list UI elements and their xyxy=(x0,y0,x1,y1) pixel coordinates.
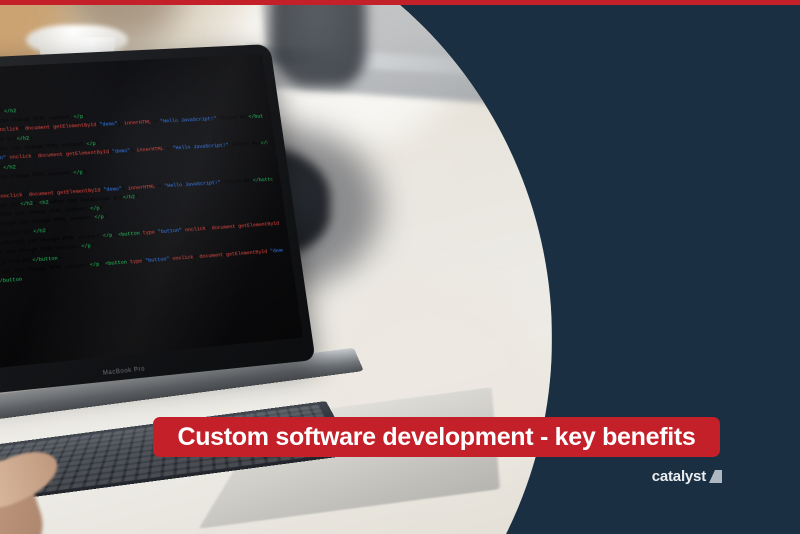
top-accent-rule xyxy=(0,0,800,5)
logo-wordmark: catalyst xyxy=(652,468,706,485)
banner-canvas: <!DOCTYPE html><html><body><h2>What Can … xyxy=(0,0,800,534)
title-banner: Custom software development - key benefi… xyxy=(153,417,720,457)
square-diagonal-icon xyxy=(709,470,722,483)
laptop-screen: <!DOCTYPE html><html><body><h2>What Can … xyxy=(0,54,303,375)
code-editor-text: <!DOCTYPE html><html><body><h2>What Can … xyxy=(0,69,285,293)
laptop-screen-shell: <!DOCTYPE html><html><body><h2>What Can … xyxy=(0,44,316,401)
brand-logo[interactable]: catalyst xyxy=(652,468,722,485)
banner-title: Custom software development - key benefi… xyxy=(177,425,695,450)
